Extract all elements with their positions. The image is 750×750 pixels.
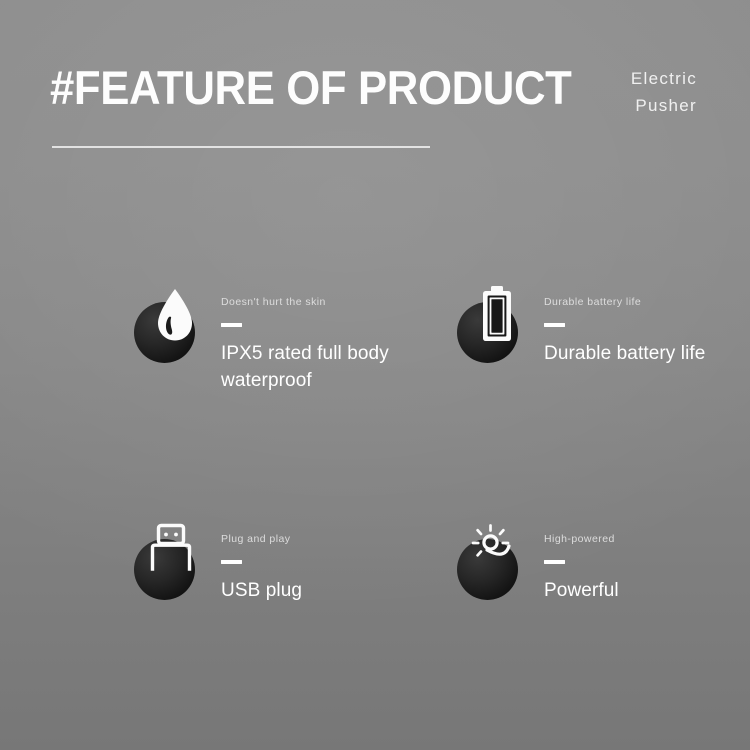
- feature-caption: High-powered: [544, 534, 619, 545]
- feature-text: Plug and play USB plug: [210, 520, 302, 604]
- feature-item-battery: Durable battery life Durable battery lif…: [455, 283, 705, 367]
- feature-icon-wrap: [132, 283, 210, 365]
- feature-icon-wrap: [455, 520, 533, 602]
- feature-icon-wrap: [455, 283, 533, 365]
- feature-caption: Durable battery life: [544, 297, 705, 308]
- feature-text: High-powered Powerful: [533, 520, 619, 604]
- feature-dash: [221, 560, 242, 564]
- feature-headline: USB plug: [221, 577, 302, 604]
- feature-slide: #FEATURE OF PRODUCT Electric Pusher Does…: [0, 0, 750, 750]
- battery-icon: [455, 283, 533, 365]
- feature-item-usb: Plug and play USB plug: [132, 520, 302, 604]
- water-drop-icon: [132, 283, 210, 365]
- feature-headline: Durable battery life: [544, 340, 705, 367]
- feature-icon-wrap: [132, 520, 210, 602]
- feature-headline: IPX5 rated full body waterproof: [221, 340, 436, 394]
- feature-item-powerful: High-powered Powerful: [455, 520, 619, 604]
- feature-text: Doesn't hurt the skin IPX5 rated full bo…: [210, 283, 436, 394]
- feature-caption: Doesn't hurt the skin: [221, 297, 436, 308]
- title-divider: [52, 146, 430, 148]
- feature-caption: Plug and play: [221, 534, 302, 545]
- feature-headline: Powerful: [544, 577, 619, 604]
- usb-plug-icon: [132, 520, 210, 602]
- brand-line-2: Pusher: [631, 92, 697, 119]
- bomb-icon: [455, 520, 533, 602]
- feature-text: Durable battery life Durable battery lif…: [533, 283, 705, 367]
- page-title: #FEATURE OF PRODUCT: [50, 63, 572, 112]
- feature-dash: [544, 560, 565, 564]
- brand-line-1: Electric: [631, 65, 697, 92]
- feature-item-waterproof: Doesn't hurt the skin IPX5 rated full bo…: [132, 283, 436, 394]
- feature-dash: [221, 323, 242, 327]
- feature-dash: [544, 323, 565, 327]
- brand-label: Electric Pusher: [631, 65, 697, 119]
